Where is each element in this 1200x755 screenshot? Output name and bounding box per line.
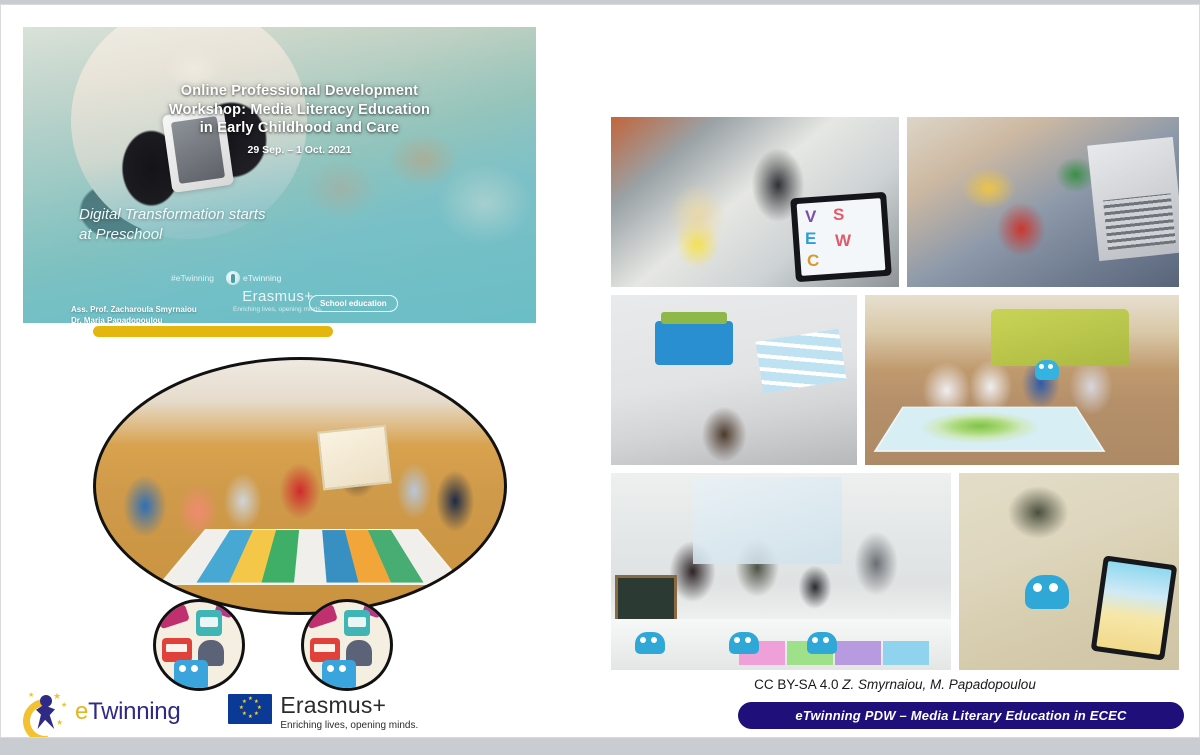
robot-blue-icon [174, 660, 208, 690]
robot-pattern-circle-right [301, 599, 393, 691]
gold-divider-bar [93, 326, 333, 337]
star-icon: ★ [61, 701, 67, 709]
tablet-letters-overlay: V S E W C [799, 203, 883, 273]
oval-classroom-photo [93, 357, 507, 615]
title-slide-brand-row: #eTwinning eTwinning [171, 271, 281, 285]
world-map-wall-icon [693, 477, 843, 564]
star-icon: ★ [242, 712, 247, 718]
robot-red-icon [162, 638, 192, 662]
slide-page: Online Professional Development Workshop… [0, 4, 1200, 738]
title-line-3: in Early Childhood and Care [71, 119, 528, 138]
etwinning-label-small: eTwinning [243, 273, 281, 283]
erasmus-logo: ★ ★ ★ ★ ★ ★ ★ ★ Erasmus+ Enriching lives… [228, 694, 418, 731]
photo-table-robots-paper [611, 473, 951, 670]
photo-child-tablet-letters: V S E W C [611, 117, 899, 287]
robot-red-icon [310, 638, 340, 662]
eu-stars-circle: ★ ★ ★ ★ ★ ★ ★ ★ [240, 698, 261, 719]
eu-flag-icon: ★ ★ ★ ★ ★ ★ ★ ★ [228, 694, 272, 724]
etwinning-mark-icon [226, 271, 240, 285]
title-slide-subtitle: Digital Transformation starts at Prescho… [79, 205, 265, 245]
photo-robot-tablet-control [959, 473, 1179, 670]
lego-bin-icon [655, 321, 733, 365]
robot-teal-icon [344, 610, 370, 636]
footer-logos: ★ ★ ★ ★ eTwinning ★ ★ ★ ★ ★ ★ ★ ★ [23, 691, 418, 733]
etwinning-logo-small: eTwinning [226, 271, 281, 285]
teacher-whiteboard-icon [317, 425, 392, 491]
title-slide-heading: Online Professional Development Workshop… [23, 82, 528, 138]
letter-v: V [805, 207, 816, 227]
erasmus-text-block: Erasmus+ Enriching lives, opening minds. [280, 693, 418, 731]
star-icon: ★ [248, 715, 253, 721]
classroom-chairs-icon [991, 309, 1129, 367]
author-line-1: Ass. Prof. Zacharoula Smyrnaiou [71, 304, 197, 315]
title-line-1: Online Professional Development [71, 82, 528, 101]
letter-s: S [833, 205, 844, 225]
etwinning-word-e: e [75, 698, 88, 725]
footer-title-bar: eTwinning PDW – Media Literary Education… [738, 702, 1184, 729]
title-slide-dates: 29 Sep. – 1 Oct. 2021 [23, 144, 528, 156]
author-line-2: Dr. Maria Papadopoulou [71, 315, 197, 323]
title-slide-image: Online Professional Development Workshop… [23, 27, 536, 323]
photo-floor-map-robot [865, 295, 1179, 465]
instruction-cards-icon [755, 329, 846, 394]
laptop-icon [1087, 137, 1179, 261]
etwinning-wordmark: eTwinning [75, 698, 180, 726]
blue-robot-icon [1025, 575, 1069, 609]
robot-teal-icon [196, 610, 222, 636]
map-rug-icon [874, 406, 1106, 451]
robot-pink-icon [156, 604, 190, 629]
etwinning-mark-icon: ★ ★ ★ ★ [23, 691, 69, 733]
letter-w: W [835, 231, 851, 251]
etwinning-person-head-icon [40, 695, 52, 707]
school-education-badge: School education [309, 295, 398, 312]
subtitle-line-2: at Preschool [79, 225, 265, 245]
subtitle-line-1: Digital Transformation starts [79, 205, 265, 225]
blue-robot-icon [807, 632, 837, 654]
etwinning-logo: ★ ★ ★ ★ eTwinning [23, 691, 180, 733]
paper-blue [883, 641, 929, 665]
star-icon: ★ [242, 700, 247, 706]
copyright-line: CC BY-SA 4.0 Z. Smyrnaiou, M. Papadopoul… [611, 677, 1179, 692]
paper-purple [835, 641, 881, 665]
cc-license: CC BY-SA 4.0 [754, 677, 842, 692]
photo-lego-bin-building [611, 295, 857, 465]
letter-e: E [805, 229, 816, 249]
star-icon: ★ [28, 691, 34, 699]
robot-pattern-circle-left [153, 599, 245, 691]
photo-lego-robot-laptop [907, 117, 1179, 287]
erasmus-tagline: Enriching lives, opening minds. [280, 720, 418, 731]
photo-grid: V S E W C [611, 117, 1179, 670]
title-line-2: Workshop: Media Literacy Education [71, 101, 528, 120]
tablet-icon [1091, 555, 1178, 660]
etwinning-word-rest: Twinning [88, 698, 180, 725]
star-icon: ★ [239, 706, 244, 712]
letter-c: C [807, 251, 819, 271]
cc-authors: Z. Smyrnaiou, M. Papadopoulou [842, 677, 1036, 692]
etwinning-hashtag: #eTwinning [171, 273, 214, 283]
star-icon: ★ [56, 718, 63, 727]
footer-bar-label: eTwinning PDW – Media Literary Education… [795, 708, 1126, 723]
coding-floor-mat [158, 529, 464, 585]
title-slide-authors: Ass. Prof. Zacharoula Smyrnaiou Dr. Mari… [71, 304, 197, 323]
star-icon: ★ [254, 712, 259, 718]
star-icon: ★ [248, 697, 253, 703]
blue-robot-icon [635, 632, 665, 654]
robot-blue-icon [322, 660, 356, 690]
star-icon: ★ [53, 691, 61, 702]
blue-robot-icon [1035, 360, 1059, 380]
blue-robot-icon [729, 632, 759, 654]
erasmus-name: Erasmus+ [280, 692, 386, 718]
